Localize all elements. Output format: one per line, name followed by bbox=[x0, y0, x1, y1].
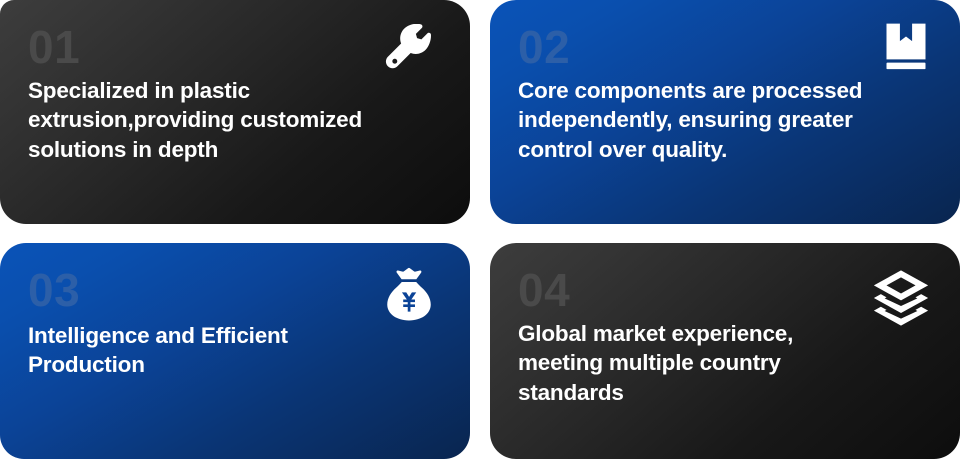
feature-card-grid: 01 Specialized in plastic extrusion,prov… bbox=[0, 0, 960, 459]
feature-card-04[interactable]: 04 Global market experience, meeting mul… bbox=[490, 243, 960, 459]
card-number: 01 bbox=[28, 24, 442, 70]
wrench-icon bbox=[384, 24, 438, 78]
book-bookmark-icon bbox=[880, 22, 932, 74]
card-title: Core components are processed independen… bbox=[518, 76, 932, 164]
money-bag-yen-icon bbox=[380, 267, 438, 325]
card-title: Global market experience, meeting multip… bbox=[518, 319, 932, 407]
card-title: Specialized in plastic extrusion,providi… bbox=[28, 76, 442, 164]
feature-card-02[interactable]: 02 Core components are processed indepen… bbox=[490, 0, 960, 224]
card-title: Intelligence and Efficient Production bbox=[28, 321, 442, 380]
feature-card-03[interactable]: 03 Intelligence and Efficient Production bbox=[0, 243, 470, 459]
layers-stack-icon bbox=[870, 267, 932, 329]
feature-card-01[interactable]: 01 Specialized in plastic extrusion,prov… bbox=[0, 0, 470, 224]
card-number: 02 bbox=[518, 24, 932, 70]
